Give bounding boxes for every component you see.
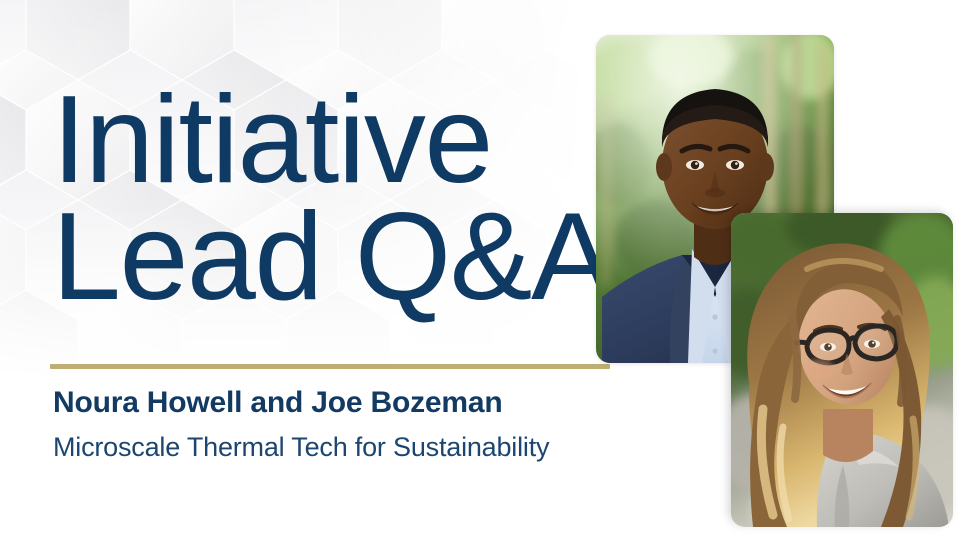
slide-canvas: Initiative Lead Q&A Noura Howell and Joe… [0,0,960,540]
title-line-1: Initiative [52,82,612,199]
presenter-names: Noura Howell and Joe Bozeman [53,386,502,420]
gold-divider [50,364,610,369]
presenter-tagline: Microscale Thermal Tech for Sustainabili… [53,431,549,463]
title-line-2: Lead Q&A [52,199,612,316]
headshot-photo-noura-howell [731,213,953,527]
page-title: Initiative Lead Q&A [52,82,612,316]
